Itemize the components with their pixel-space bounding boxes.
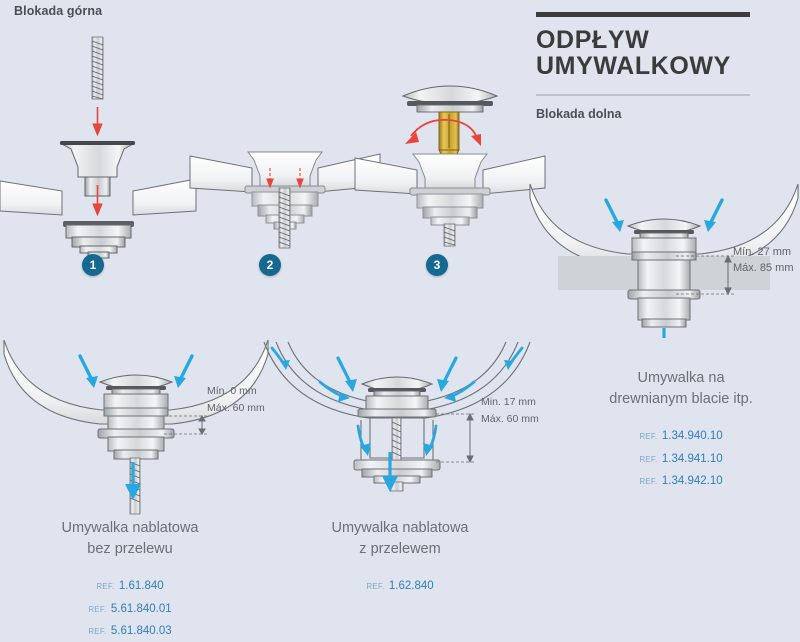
threaded-rod bbox=[279, 188, 290, 248]
caption-with-overflow-line1: Umywalka nablatowa bbox=[285, 518, 515, 539]
step3-illustration bbox=[355, 70, 545, 245]
refs-countertop: REF. 1.34.940.10 REF. 1.34.941.10 REF. 1… bbox=[566, 424, 796, 492]
ref-item: REF. 1.34.941.10 bbox=[566, 447, 796, 470]
ref-item: REF. 1.34.942.10 bbox=[566, 469, 796, 492]
caption-no-overflow-line2: bez przelewu bbox=[15, 539, 245, 560]
caption-countertop-line2: drewnianym blacie itp. bbox=[566, 389, 796, 410]
red-down-arrow-icon bbox=[93, 107, 102, 135]
label-blokada-gorna: Blokada górna bbox=[14, 4, 102, 18]
caption-no-overflow-line1: Umywalka nablatowa bbox=[15, 518, 245, 539]
dimension-line bbox=[436, 414, 476, 462]
caption-countertop-line1: Umywalka na bbox=[566, 368, 796, 389]
no-overflow-outflow-arrow bbox=[108, 462, 158, 502]
dimension-min-no-overflow: Mín. 0 mm bbox=[207, 384, 257, 398]
dimension-min-with-overflow: Min. 17 mm bbox=[481, 395, 536, 409]
title-block: ODPŁYW UMYWALKOWY Blokada dolna bbox=[536, 12, 786, 121]
cyan-flow-arrow-icon bbox=[125, 462, 141, 500]
threaded-rod bbox=[444, 224, 455, 246]
step-badge-2: 2 bbox=[259, 254, 281, 276]
title-rule-thin bbox=[536, 94, 750, 96]
page-title-line2: UMYWALKOWY bbox=[536, 52, 786, 82]
basin-wall-left bbox=[355, 158, 417, 194]
ref-item: REF. 1.62.840 bbox=[285, 574, 515, 597]
cyan-flow-arrow-icon bbox=[382, 452, 398, 492]
drain-cap bbox=[403, 86, 497, 112]
drain-body bbox=[63, 221, 134, 258]
caption-with-overflow-line2: z przelewem bbox=[285, 539, 515, 560]
drain-assembly bbox=[628, 219, 700, 327]
refs-with-overflow: REF. 1.62.840 bbox=[285, 574, 515, 597]
dimension-min-countertop: Mín. 27 mm bbox=[733, 245, 791, 260]
drain-body bbox=[410, 154, 490, 225]
diagram-page: Blokada górna ODPŁYW UMYWALKOWY Blokada … bbox=[0, 0, 800, 614]
title-rule-thick bbox=[536, 12, 750, 17]
ref-item: REF. 1.34.940.10 bbox=[566, 424, 796, 447]
ref-item: REF. 5.61.840.01 bbox=[15, 597, 245, 620]
label-blokada-dolna: Blokada dolna bbox=[536, 107, 786, 121]
drain-assembly bbox=[98, 375, 174, 459]
step1-illustration bbox=[0, 25, 200, 240]
step-badge-3: 3 bbox=[426, 254, 448, 276]
refs-no-overflow: REF. 1.61.840 REF. 5.61.840.01 REF. 5.61… bbox=[15, 574, 245, 642]
basin-wall-left bbox=[0, 181, 62, 215]
step2-illustration bbox=[190, 130, 380, 255]
threaded-rod bbox=[92, 37, 103, 99]
dimension-max-no-overflow: Máx. 60 mm bbox=[207, 401, 265, 415]
ref-item: REF. 5.61.840.03 bbox=[15, 619, 245, 642]
step-badge-1: 1 bbox=[82, 254, 104, 276]
ref-item: REF. 1.61.840 bbox=[15, 574, 245, 597]
basin-wall-left bbox=[190, 156, 252, 192]
with-overflow-outflow-arrow bbox=[365, 452, 415, 494]
dimension-max-with-overflow: Máx. 60 mm bbox=[481, 412, 539, 426]
basin-wall-right bbox=[133, 179, 196, 215]
dimension-max-countertop: Máx. 85 mm bbox=[733, 261, 794, 276]
